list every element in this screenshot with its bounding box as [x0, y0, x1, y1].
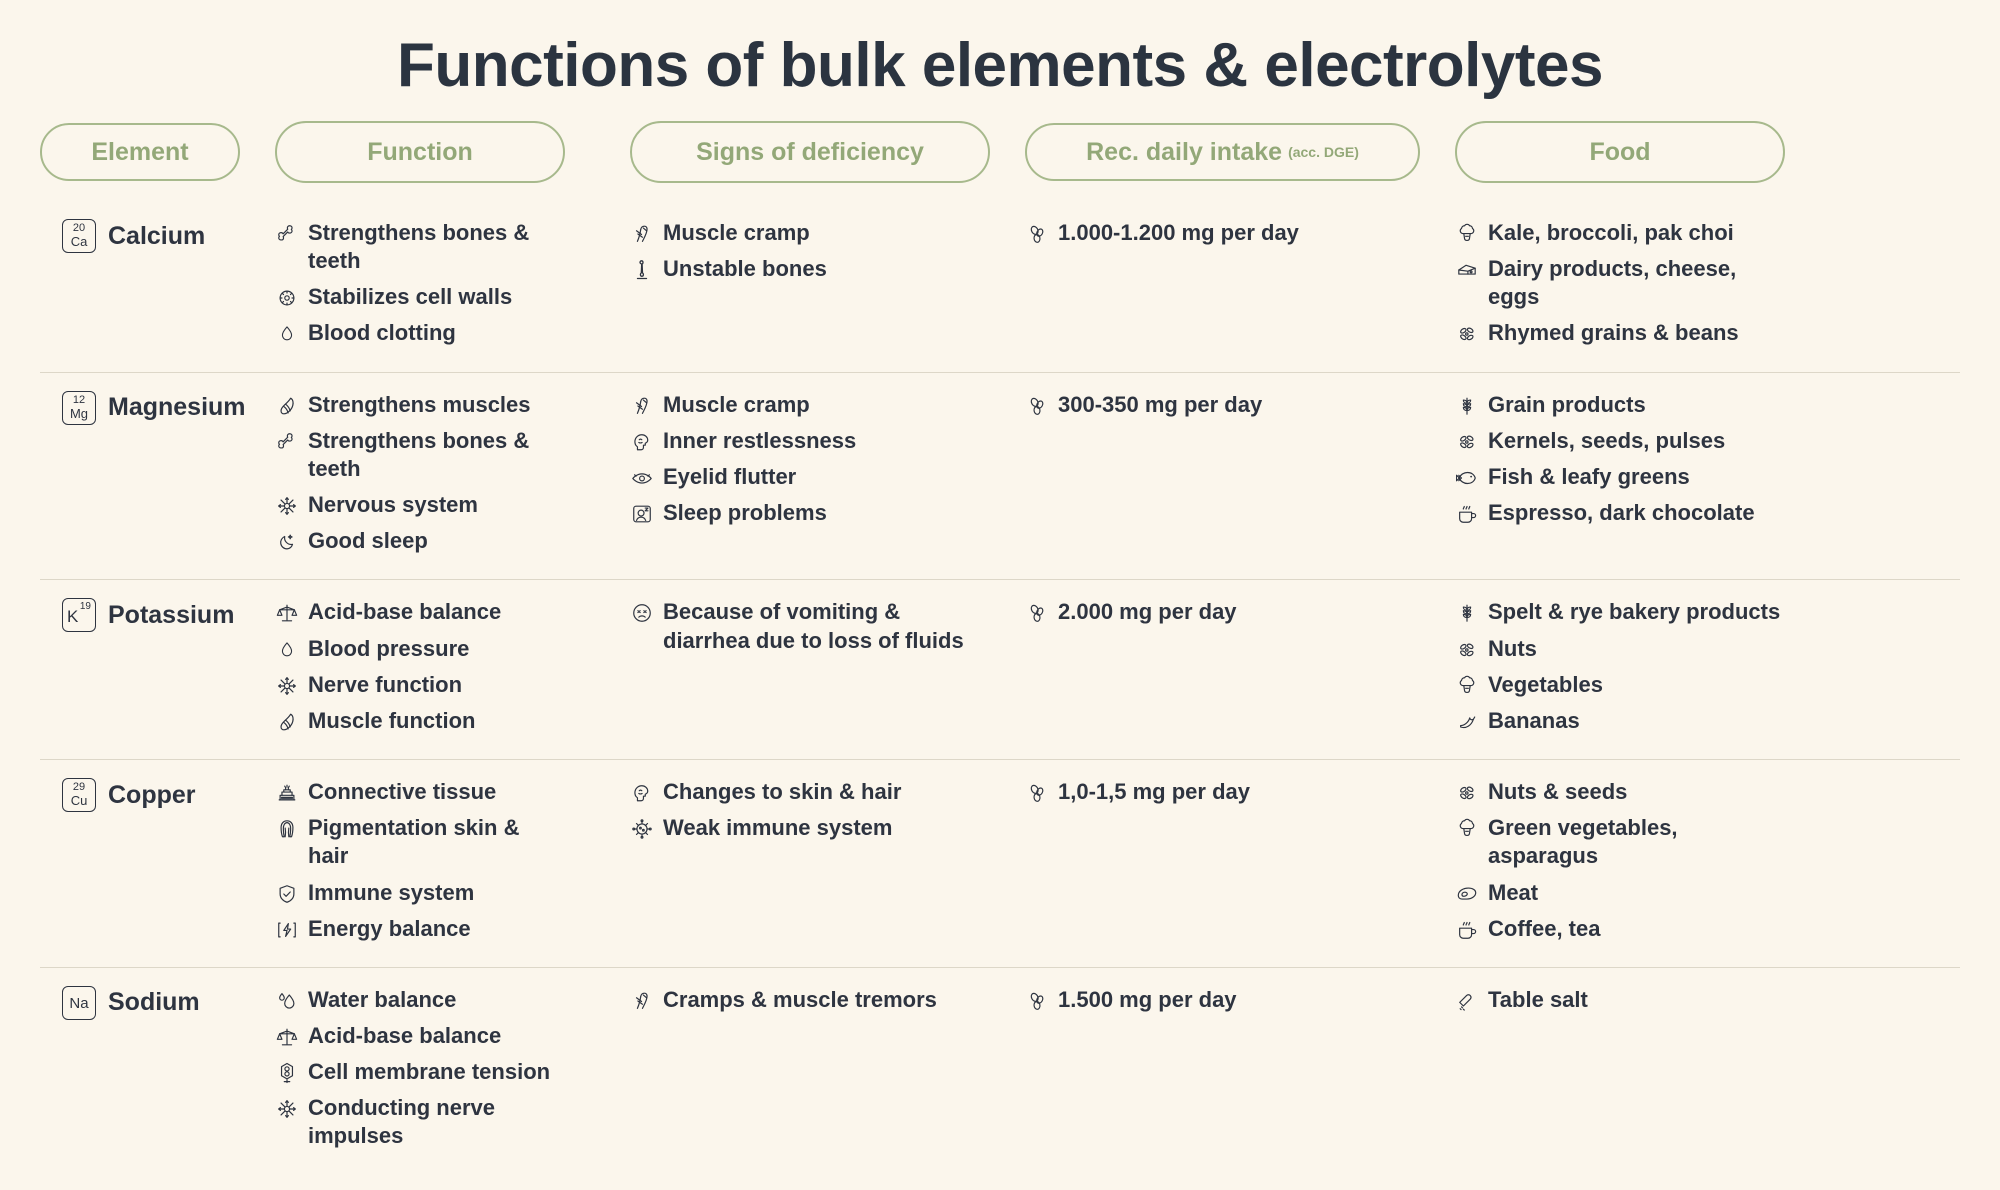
function-item-label: Connective tissue: [308, 778, 496, 806]
food-item-label: Table salt: [1488, 986, 1588, 1014]
element-name: Copper: [108, 781, 196, 810]
virus-icon: [630, 816, 654, 842]
function-list: Strengthens musclesStrengthens bones & t…: [275, 391, 565, 556]
function-cell: Acid-base balanceBlood pressureNerve fun…: [275, 594, 565, 743]
bone-icon: [275, 429, 299, 455]
function-item-label: Acid-base balance: [308, 598, 501, 626]
table-row: 12 Mg Magnesium Strengthens musclesStren…: [40, 373, 1960, 581]
food-item: Grain products: [1455, 391, 1785, 419]
food-item-label: Nuts: [1488, 635, 1537, 663]
header-label-food: Food: [1589, 138, 1650, 167]
function-list: Acid-base balanceBlood pressureNerve fun…: [275, 598, 565, 735]
element-badge: 12 Mg: [62, 391, 96, 425]
atomic-number: 20: [63, 223, 95, 234]
food-list: Table salt: [1455, 986, 1785, 1014]
blood-drop-icon: [275, 321, 299, 347]
pills-icon: [1025, 221, 1049, 247]
grain-icon: [1455, 393, 1479, 419]
intake-cell: 2.000 mg per day: [1025, 594, 1420, 634]
element-cell: K 19 Potassium: [40, 594, 240, 632]
function-item: Water balance: [275, 986, 565, 1014]
header-label-function: Function: [367, 138, 473, 167]
scales-icon: [275, 1024, 299, 1050]
element-badge: Na: [62, 986, 96, 1020]
function-item: Immune system: [275, 879, 565, 907]
food-list: Grain productsKernels, seeds, pulsesFish…: [1455, 391, 1785, 528]
neuron-icon: [275, 673, 299, 699]
deficiency-cell: Because of vomiting & diarrhea due to lo…: [630, 594, 990, 662]
header-pill-food: Food: [1455, 121, 1785, 183]
shield-check-icon: [275, 881, 299, 907]
function-cell: Water balanceAcid-base balanceCell membr…: [275, 982, 565, 1159]
food-item-label: Bananas: [1488, 707, 1580, 735]
element-symbol: Na: [63, 996, 95, 1011]
header-pill-function: Function: [275, 121, 565, 183]
atomic-number: 29: [63, 782, 95, 793]
header-label-intake: Rec. daily intake: [1086, 138, 1282, 167]
food-item-label: Grain products: [1488, 391, 1646, 419]
broccoli-icon: [1455, 221, 1479, 247]
sick-face-icon: [630, 600, 654, 626]
function-item-label: Immune system: [308, 879, 474, 907]
element-cell: Na Sodium: [40, 982, 240, 1020]
function-item-label: Nervous system: [308, 491, 478, 519]
function-item: Nerve function: [275, 671, 565, 699]
food-list: Spelt & rye bakery productsNutsVegetable…: [1455, 598, 1785, 735]
header-label-element: Element: [91, 138, 188, 167]
function-cell: Strengthens musclesStrengthens bones & t…: [275, 387, 565, 564]
table-row: K 19 Potassium Acid-base balanceBlood pr…: [40, 580, 1960, 760]
function-item: Strengthens bones & teeth: [275, 219, 565, 275]
deficiency-cell: Muscle crampUnstable bones: [630, 215, 990, 291]
unstable-bone-icon: [630, 257, 654, 283]
header-pill-element: Element: [40, 123, 240, 181]
food-item-label: Fish & leafy greens: [1488, 463, 1690, 491]
food-item: Vegetables: [1455, 671, 1785, 699]
intake-item: 1.500 mg per day: [1025, 986, 1420, 1014]
deficiency-item: Weak immune system: [630, 814, 990, 842]
food-item: Rhymed grains & beans: [1455, 319, 1785, 347]
food-item: Dairy products, cheese, eggs: [1455, 255, 1785, 311]
food-item-label: Vegetables: [1488, 671, 1603, 699]
coffee-cup-icon: [1455, 501, 1479, 527]
function-item-label: Acid-base balance: [308, 1022, 501, 1050]
deficiency-item-label: Sleep problems: [663, 499, 827, 527]
seeds-icon: [1455, 637, 1479, 663]
food-item-label: Kernels, seeds, pulses: [1488, 427, 1725, 455]
function-cell: Connective tissuePigmentation skin & hai…: [275, 774, 565, 951]
intake-item-label: 1.500 mg per day: [1058, 986, 1237, 1014]
deficiency-item-label: Unstable bones: [663, 255, 827, 283]
intake-cell: 1.500 mg per day: [1025, 982, 1420, 1022]
scales-icon: [275, 600, 299, 626]
seeds-icon: [1455, 321, 1479, 347]
function-item: Connective tissue: [275, 778, 565, 806]
deficiency-list: Muscle crampUnstable bones: [630, 219, 990, 283]
deficiency-item: Muscle cramp: [630, 391, 990, 419]
broccoli-icon: [1455, 816, 1479, 842]
food-list: Nuts & seedsGreen vegetables, asparagusM…: [1455, 778, 1785, 943]
intake-list: 2.000 mg per day: [1025, 598, 1420, 626]
function-item: Conducting nerve impulses: [275, 1094, 565, 1150]
function-item-label: Strengthens muscles: [308, 391, 531, 419]
header-label-intake-source: (acc. DGE): [1288, 144, 1359, 160]
food-item-label: Dairy products, cheese, eggs: [1488, 255, 1785, 311]
deficiency-cell: Muscle crampInner restlessnessEyelid flu…: [630, 387, 990, 536]
food-item-label: Meat: [1488, 879, 1538, 907]
food-item: Kale, broccoli, pak choi: [1455, 219, 1785, 247]
function-item: Pigmentation skin & hair: [275, 814, 565, 870]
sleep-problem-icon: [630, 501, 654, 527]
blood-drop-icon: [275, 637, 299, 663]
deficiency-list: Changes to skin & hairWeak immune system: [630, 778, 990, 842]
function-item-label: Energy balance: [308, 915, 471, 943]
food-item: Espresso, dark chocolate: [1455, 499, 1785, 527]
function-item: Muscle function: [275, 707, 565, 735]
function-item-label: Conducting nerve impulses: [308, 1094, 565, 1150]
function-cell: Strengthens bones & teethStabilizes cell…: [275, 215, 565, 356]
cheese-icon: [1455, 257, 1479, 283]
deficiency-item: Muscle cramp: [630, 219, 990, 247]
deficiency-item: Sleep problems: [630, 499, 990, 527]
deficiency-list: Because of vomiting & diarrhea due to lo…: [630, 598, 990, 654]
element-name: Sodium: [108, 988, 200, 1017]
deficiency-cell: Cramps & muscle tremors: [630, 982, 990, 1022]
intake-item-label: 2.000 mg per day: [1058, 598, 1237, 626]
function-item: Blood clotting: [275, 319, 565, 347]
element-badge: 20 Ca: [62, 219, 96, 253]
element-name: Magnesium: [108, 393, 246, 422]
energy-bolt-icon: [275, 917, 299, 943]
deficiency-item-label: Because of vomiting & diarrhea due to lo…: [663, 598, 990, 654]
muscle-icon: [275, 709, 299, 735]
neuron-icon: [275, 1096, 299, 1122]
infographic-page: Functions of bulk elements & electrolyte…: [0, 0, 2000, 1190]
muscle-cramp-icon: [630, 221, 654, 247]
bone-icon: [275, 221, 299, 247]
deficiency-item: Unstable bones: [630, 255, 990, 283]
function-item-label: Strengthens bones & teeth: [308, 219, 565, 275]
function-list: Strengthens bones & teethStabilizes cell…: [275, 219, 565, 348]
deficiency-list: Muscle crampInner restlessnessEyelid flu…: [630, 391, 990, 528]
seeds-icon: [1455, 780, 1479, 806]
function-item: Acid-base balance: [275, 1022, 565, 1050]
hair-icon: [275, 816, 299, 842]
deficiency-item-label: Inner restlessness: [663, 427, 856, 455]
element-name: Calcium: [108, 222, 205, 251]
pills-icon: [1025, 393, 1049, 419]
function-list: Connective tissuePigmentation skin & hai…: [275, 778, 565, 943]
function-item-label: Good sleep: [308, 527, 428, 555]
intake-item: 300-350 mg per day: [1025, 391, 1420, 419]
intake-item-label: 300-350 mg per day: [1058, 391, 1262, 419]
header-pill-intake: Rec. daily intake (acc. DGE): [1025, 123, 1420, 181]
coffee-cup-icon: [1455, 917, 1479, 943]
function-item-label: Pigmentation skin & hair: [308, 814, 565, 870]
element-symbol: Mg: [63, 407, 95, 420]
function-item-label: Blood clotting: [308, 319, 456, 347]
function-item: Nervous system: [275, 491, 565, 519]
function-item-label: Water balance: [308, 986, 456, 1014]
salt-icon: [1455, 988, 1479, 1014]
intake-item-label: 1,0-1,5 mg per day: [1058, 778, 1250, 806]
pills-icon: [1025, 600, 1049, 626]
cell-icon: [275, 285, 299, 311]
deficiency-item: Cramps & muscle tremors: [630, 986, 990, 1014]
header-label-deficiency: Signs of deficiency: [696, 138, 924, 167]
deficiency-item: Because of vomiting & diarrhea due to lo…: [630, 598, 990, 654]
intake-item: 1,0-1,5 mg per day: [1025, 778, 1420, 806]
intake-cell: 1,0-1,5 mg per day: [1025, 774, 1420, 814]
element-symbol: Cu: [63, 794, 95, 807]
function-item: Blood pressure: [275, 635, 565, 663]
food-cell: Nuts & seedsGreen vegetables, asparagusM…: [1455, 774, 1785, 951]
intake-item-label: 1.000-1.200 mg per day: [1058, 219, 1299, 247]
meat-icon: [1455, 881, 1479, 907]
intake-item: 1.000-1.200 mg per day: [1025, 219, 1420, 247]
deficiency-item-label: Muscle cramp: [663, 391, 810, 419]
food-item: Nuts & seeds: [1455, 778, 1785, 806]
food-item-label: Coffee, tea: [1488, 915, 1600, 943]
deficiency-item: Changes to skin & hair: [630, 778, 990, 806]
deficiency-item: Eyelid flutter: [630, 463, 990, 491]
food-item-label: Spelt & rye bakery products: [1488, 598, 1780, 626]
food-item-label: Green vegetables, asparagus: [1488, 814, 1785, 870]
element-cell: 29 Cu Copper: [40, 774, 240, 812]
food-item: Spelt & rye bakery products: [1455, 598, 1785, 626]
deficiency-item-label: Changes to skin & hair: [663, 778, 901, 806]
function-item: Cell membrane tension: [275, 1058, 565, 1086]
food-item-label: Nuts & seeds: [1488, 778, 1627, 806]
element-symbol: K: [67, 608, 78, 625]
deficiency-item-label: Cramps & muscle tremors: [663, 986, 937, 1014]
function-item-label: Nerve function: [308, 671, 462, 699]
function-item-label: Blood pressure: [308, 635, 469, 663]
seeds-icon: [1455, 429, 1479, 455]
element-name: Potassium: [108, 601, 234, 630]
neuron-icon: [275, 493, 299, 519]
intake-list: 300-350 mg per day: [1025, 391, 1420, 419]
food-cell: Grain productsKernels, seeds, pulsesFish…: [1455, 387, 1785, 536]
food-item-label: Kale, broccoli, pak choi: [1488, 219, 1734, 247]
function-item-label: Strengthens bones & teeth: [308, 427, 565, 483]
function-item: Stabilizes cell walls: [275, 283, 565, 311]
intake-cell: 300-350 mg per day: [1025, 387, 1420, 427]
tissue-icon: [275, 780, 299, 806]
deficiency-item-label: Eyelid flutter: [663, 463, 796, 491]
fish-icon: [1455, 465, 1479, 491]
element-badge: K 19: [62, 598, 96, 632]
food-item: Coffee, tea: [1455, 915, 1785, 943]
muscle-cramp-icon: [630, 393, 654, 419]
function-item: Acid-base balance: [275, 598, 565, 626]
intake-item: 2.000 mg per day: [1025, 598, 1420, 626]
deficiency-cell: Changes to skin & hairWeak immune system: [630, 774, 990, 850]
broccoli-icon: [1455, 673, 1479, 699]
table-row: 29 Cu Copper Connective tissuePigmentati…: [40, 760, 1960, 968]
atomic-number: 19: [80, 602, 91, 612]
head-unrest-icon: [630, 780, 654, 806]
element-symbol: Ca: [63, 235, 95, 248]
element-badge: 29 Cu: [62, 778, 96, 812]
table-row: Na Sodium Water balanceAcid-base balance…: [40, 968, 1960, 1175]
function-item: Good sleep: [275, 527, 565, 555]
food-item: Bananas: [1455, 707, 1785, 735]
food-item: Nuts: [1455, 635, 1785, 663]
pills-icon: [1025, 988, 1049, 1014]
function-item: Strengthens bones & teeth: [275, 427, 565, 483]
intake-list: 1.500 mg per day: [1025, 986, 1420, 1014]
food-cell: Kale, broccoli, pak choiDairy products, …: [1455, 215, 1785, 356]
function-item: Strengthens muscles: [275, 391, 565, 419]
atomic-number: 12: [63, 395, 95, 406]
muscle-icon: [275, 393, 299, 419]
intake-list: 1,0-1,5 mg per day: [1025, 778, 1420, 806]
function-item-label: Stabilizes cell walls: [308, 283, 512, 311]
function-item-label: Cell membrane tension: [308, 1058, 550, 1086]
header-pill-deficiency: Signs of deficiency: [630, 121, 990, 183]
food-list: Kale, broccoli, pak choiDairy products, …: [1455, 219, 1785, 348]
column-headers: Element Function Signs of deficiency Rec…: [0, 107, 2000, 183]
pills-icon: [1025, 780, 1049, 806]
deficiency-list: Cramps & muscle tremors: [630, 986, 990, 1014]
deficiency-item: Inner restlessness: [630, 427, 990, 455]
element-rows: 20 Ca Calcium Strengthens bones & teethS…: [0, 201, 2000, 1175]
intake-cell: 1.000-1.200 mg per day: [1025, 215, 1420, 255]
page-title: Functions of bulk elements & electrolyte…: [0, 0, 2000, 107]
table-row: 20 Ca Calcium Strengthens bones & teethS…: [40, 201, 1960, 373]
food-cell: Spelt & rye bakery productsNutsVegetable…: [1455, 594, 1785, 743]
food-item: Green vegetables, asparagus: [1455, 814, 1785, 870]
element-cell: 20 Ca Calcium: [40, 215, 240, 253]
deficiency-item-label: Weak immune system: [663, 814, 892, 842]
moon-icon: [275, 529, 299, 555]
food-item-label: Espresso, dark chocolate: [1488, 499, 1755, 527]
intake-list: 1.000-1.200 mg per day: [1025, 219, 1420, 247]
banana-icon: [1455, 709, 1479, 735]
food-item: Meat: [1455, 879, 1785, 907]
food-item-label: Rhymed grains & beans: [1488, 319, 1739, 347]
water-drop-icon: [275, 988, 299, 1014]
element-cell: 12 Mg Magnesium: [40, 387, 240, 425]
function-item-label: Muscle function: [308, 707, 475, 735]
function-item: Energy balance: [275, 915, 565, 943]
food-cell: Table salt: [1455, 982, 1785, 1022]
eye-icon: [630, 465, 654, 491]
food-item: Kernels, seeds, pulses: [1455, 427, 1785, 455]
head-unrest-icon: [630, 429, 654, 455]
food-item: Fish & leafy greens: [1455, 463, 1785, 491]
deficiency-item-label: Muscle cramp: [663, 219, 810, 247]
grain-icon: [1455, 600, 1479, 626]
food-item: Table salt: [1455, 986, 1785, 1014]
muscle-cramp-icon: [630, 988, 654, 1014]
cell-membrane-icon: [275, 1060, 299, 1086]
function-list: Water balanceAcid-base balanceCell membr…: [275, 986, 565, 1151]
